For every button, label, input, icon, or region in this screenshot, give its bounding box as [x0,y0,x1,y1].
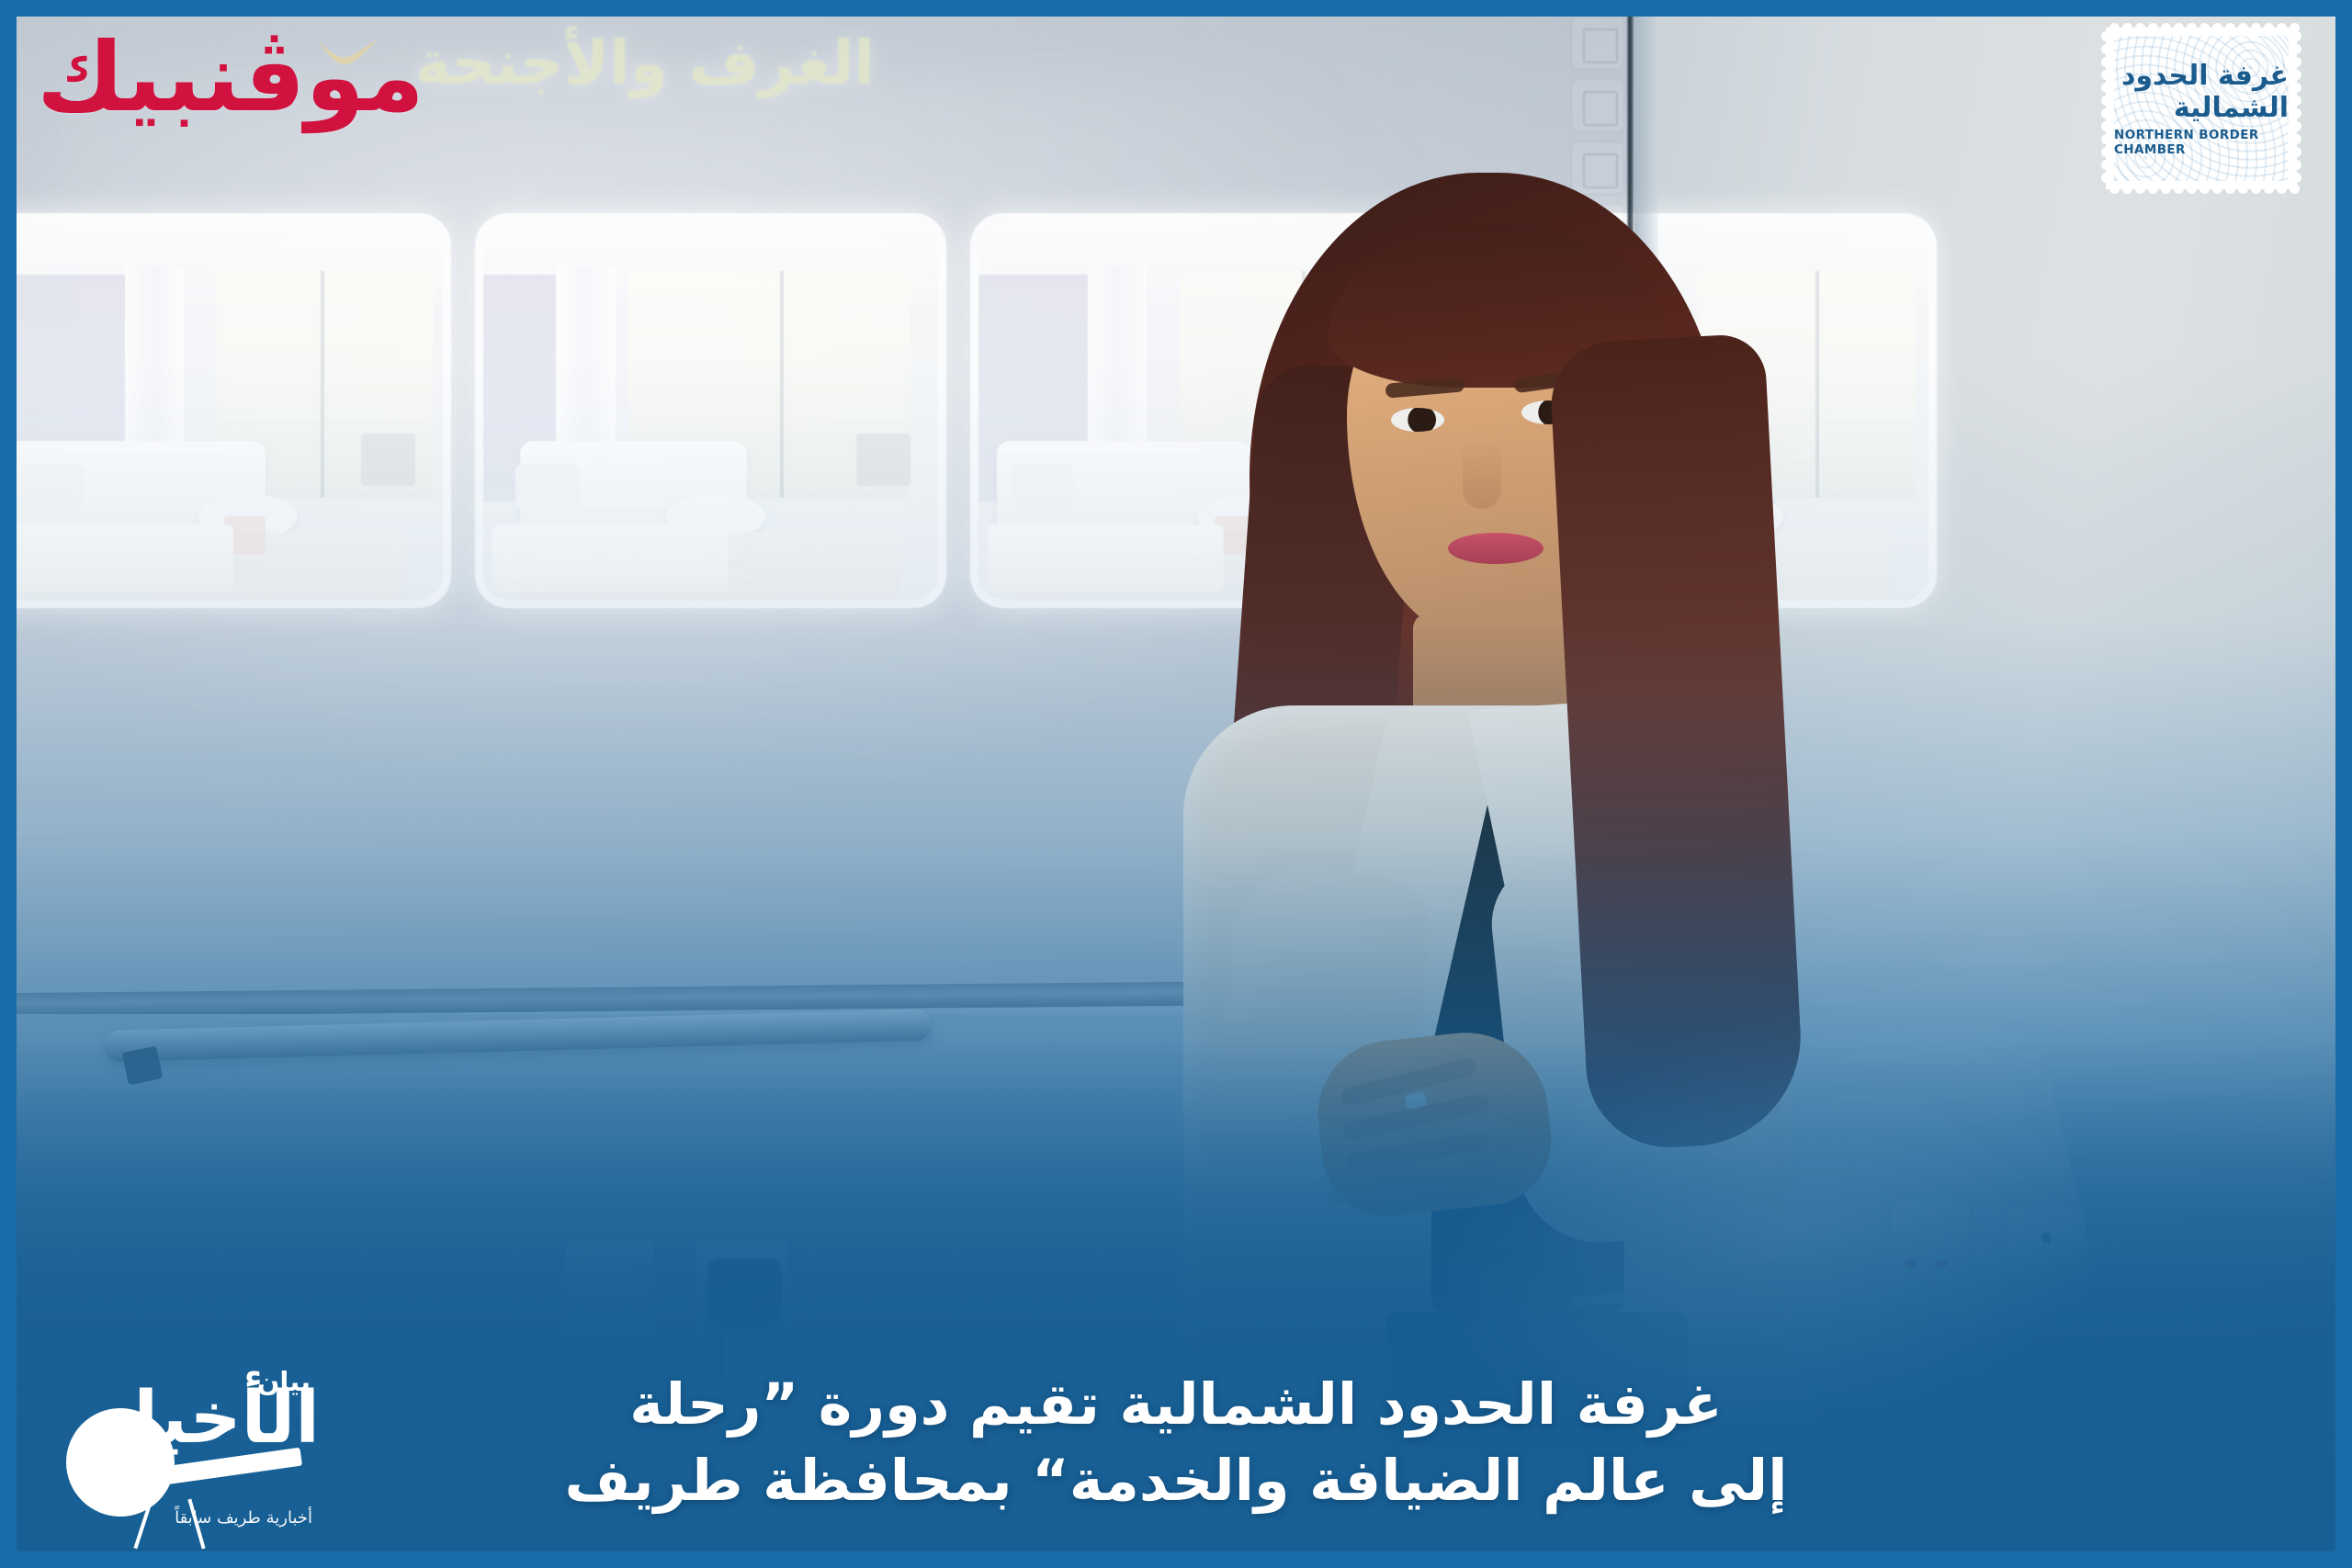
stamp-perforation [2291,108,2301,118]
stamp-perforation [2264,23,2274,33]
save-icon [1571,17,1624,70]
photograph: الغرف والأجنحة [17,17,2335,1551]
slide-title: الغرف والأجنحة [415,28,875,98]
stamp-perforation [2199,184,2210,194]
stamp-perforation [2101,44,2111,54]
stamp-perforation [2174,23,2184,33]
projected-toolbar [1571,17,1624,320]
stamp-perforation [2291,83,2301,93]
stamp-perforation [2225,184,2235,194]
stamp-perforation [2264,184,2274,194]
image-frame: الغرف والأجنحة [0,0,2352,1568]
stamp-perforation [2101,134,2111,144]
stamp-perforation [2101,57,2111,67]
stamp-perforation [2291,44,2301,54]
stamp-perforation [2291,160,2301,170]
stamp-perforation [2109,23,2120,33]
stamp-perforation [2238,23,2248,33]
document-icon [1571,79,1624,132]
stamp-perforation [2291,96,2301,106]
stamp-perforation [2291,31,2301,41]
stamp-perforation [2148,184,2158,194]
stamp-perforation [2187,184,2197,194]
caption-line-2: إلى عالم الضيافة والخدمة“ بمحافظة طريف [164,1442,2188,1518]
stamp-perforation [2212,184,2222,194]
thermostat-panel [1891,1201,1970,1280]
stamp-perforation [2101,121,2111,131]
stamp-perforation [2101,147,2111,157]
stamp-perforation [2291,134,2301,144]
stamp-perforation [2101,173,2111,183]
stamp-perforation [2291,121,2301,131]
stamp-perforation [2135,184,2145,194]
stamp-perforation [2101,31,2111,41]
stamp-perforation [2277,184,2287,194]
caption-line-1: غرفة الحدود الشمالية تقيم دورة ”رحلة [629,1371,1723,1438]
stamp-perforation [2251,23,2261,33]
stamp-perforation [2101,83,2111,93]
access-control-panel [2008,1209,2086,1286]
stamp-perforation [2291,57,2301,67]
stamp-perforation [2277,23,2287,33]
caption: غرفة الحدود الشمالية تقيم دورة ”رحلة إلى… [17,1366,2335,1518]
stamp-perforation [2122,184,2132,194]
slide-photo [970,213,1442,608]
stamp-perforation [2291,70,2301,80]
export-icon [1571,141,1624,195]
stamp-perforation [2251,184,2261,194]
stamp-perforation [2109,184,2120,194]
stamp-perforation [2135,23,2145,33]
stamp-perforation [2101,70,2111,80]
stamp-perforation [2199,23,2210,33]
slide-photo [1465,213,1937,608]
stamp-perforation [2101,108,2111,118]
light-switch [566,1240,654,1332]
annotate-icon [1571,204,1624,257]
stamp-perforation [2101,96,2111,106]
stamp-perforation [2148,23,2158,33]
stamp-perforation [2290,184,2300,194]
stamp-perforation [2122,23,2132,33]
wall-seam [1626,17,1634,1551]
chamber-logo-english: NORTHERN BORDER CHAMBER [2114,128,2289,157]
tray-clip [122,1045,164,1085]
stamp-perforation [2225,23,2235,33]
stamp-perforation [2161,184,2171,194]
slide-photo [17,213,451,608]
stamp-perforation [2101,160,2111,170]
movenpick-watermark: موڤنبيك [37,29,424,125]
chamber-logo-arabic: غرفة الحدود الشمالية [2114,60,2289,124]
stamp-perforation [2174,184,2184,194]
stamp-perforation [2161,23,2171,33]
stamp-perforation [2187,23,2197,33]
stamp-perforation [2291,173,2301,183]
stamp-perforation [2212,23,2222,33]
chamber-logo: غرفة الحدود الشمالية NORTHERN BORDER CHA… [2106,28,2297,189]
stamp-perforation [2238,184,2248,194]
stamp-perforation [2291,147,2301,157]
pen-icon [1571,266,1624,320]
power-plug [707,1258,781,1328]
wall-seam-edge [1634,17,1658,1551]
slide-photo [475,213,946,608]
